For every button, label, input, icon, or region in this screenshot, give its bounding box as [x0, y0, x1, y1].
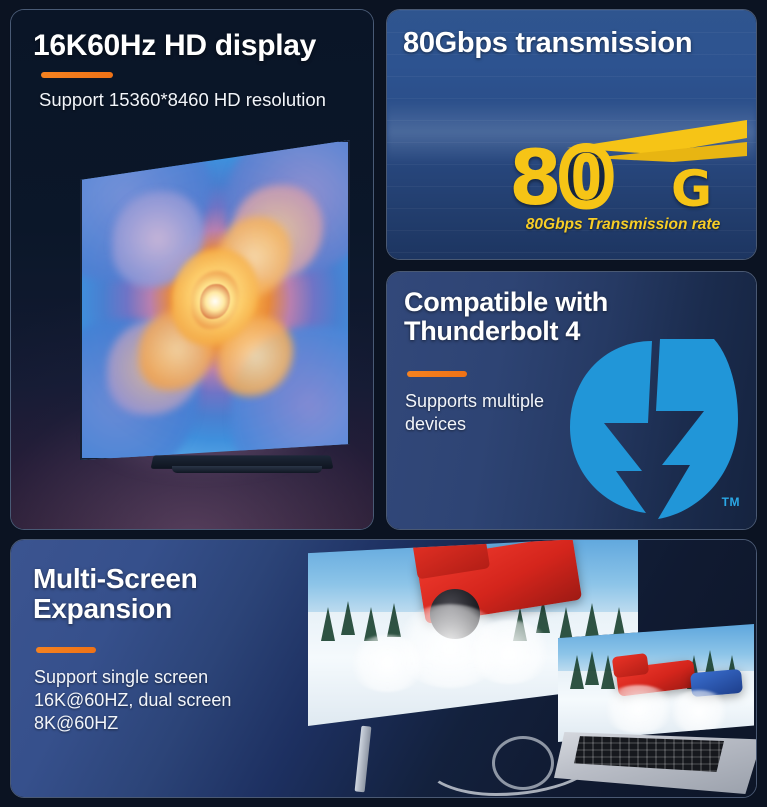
multiscreen-title-line2: Expansion [33, 594, 197, 624]
connection-cable-loop [492, 736, 554, 790]
multiscreen-title: Multi-Screen Expansion [33, 564, 197, 624]
eighty-gbps-logo: 80 G 80Gbps Transmission rate [499, 118, 747, 240]
panel-hd-display: 16K60Hz HD display Support 15360*8460 HD… [10, 9, 374, 530]
multiscreen-subtitle-line3: 8K@60HZ [34, 712, 304, 735]
thunderbolt-accent-bar [407, 371, 467, 377]
logo-zero-glyph: 0 [560, 140, 611, 216]
tv-foot [172, 466, 322, 473]
multiscreen-subtitle-line2: 16K@60HZ, dual screen [34, 689, 304, 712]
monitor-snow-spray-2 [466, 620, 552, 685]
transmission-rate-tagline: 80Gbps Transmission rate [499, 216, 747, 234]
transmission-title: 80Gbps transmission [403, 28, 692, 59]
thunderbolt-trademark: TM [722, 495, 740, 509]
laptop-snow-spray-2 [668, 690, 731, 732]
multiscreen-accent-bar [36, 647, 96, 653]
monitor-snow-spray-3 [348, 635, 427, 692]
television-illustration [44, 132, 362, 504]
eighty-gbps-logo-digits: 80 [509, 140, 611, 216]
panel-transmission: 80Gbps transmission 80 G 80Gbps Transmis… [386, 9, 757, 260]
thunderbolt-title-line1: Compatible with [404, 288, 608, 317]
monitor-stand [355, 726, 372, 793]
multiscreen-device-scene [296, 540, 757, 798]
thunderbolt-bolt-icon [564, 337, 742, 523]
product-feature-graphic: 16K60Hz HD display Support 15360*8460 HD… [0, 0, 767, 807]
eighty-gbps-logo-g: G [671, 164, 712, 214]
laptop-truck-cab [612, 653, 650, 678]
panel-multiscreen: Multi-Screen Expansion Support single sc… [10, 539, 757, 798]
hd-display-title: 16K60Hz HD display [33, 30, 316, 62]
panel-thunderbolt: Compatible with Thunderbolt 4 Supports m… [386, 271, 757, 530]
multiscreen-title-line1: Multi-Screen [33, 564, 197, 594]
hd-display-accent-bar [41, 72, 113, 78]
flower-petals [80, 140, 350, 460]
tv-screen-flower-image [80, 140, 350, 460]
thunderbolt-logo: TM [564, 337, 742, 523]
multiscreen-subtitle: Support single screen 16K@60HZ, dual scr… [34, 666, 304, 735]
multiscreen-subtitle-line1: Support single screen [34, 666, 304, 689]
laptop-snow-spray-1 [601, 685, 675, 732]
hd-display-subtitle: Support 15360*8460 HD resolution [39, 88, 326, 112]
